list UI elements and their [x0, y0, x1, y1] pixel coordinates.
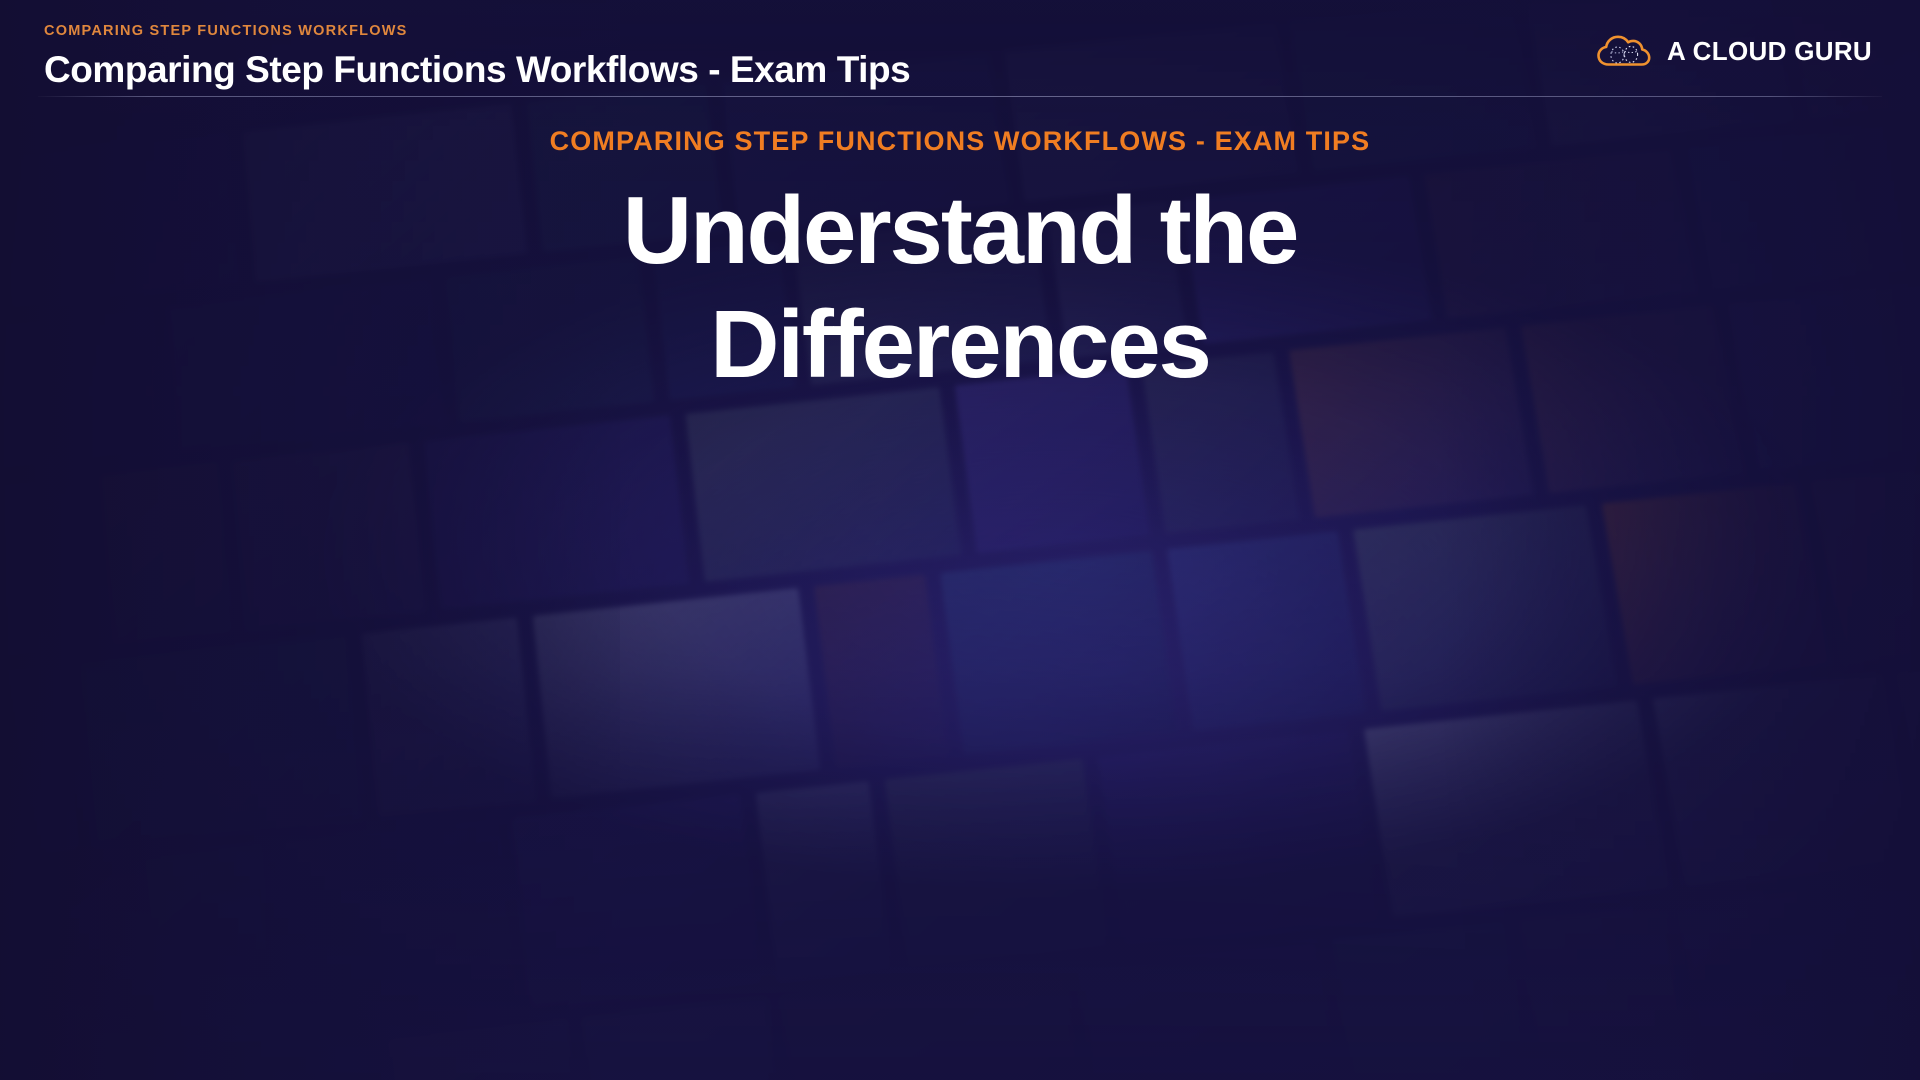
mosaic-tile — [0, 1070, 116, 1080]
brand-lockup: A CLOUD GURU — [1596, 18, 1872, 70]
mosaic-tile — [512, 795, 761, 1008]
mosaic-tile — [756, 781, 892, 981]
mosaic-row — [0, 1050, 1920, 1080]
page-title: Comparing Step Functions Workflows - Exa… — [44, 49, 910, 90]
mosaic-tile — [362, 618, 536, 817]
mosaic-tile — [1333, 922, 1535, 1080]
brand-name: A CLOUD GURU — [1667, 36, 1872, 67]
slide: COMPARING STEP FUNCTIONS WORKFLOWS Compa… — [0, 0, 1920, 1080]
mosaic-tile — [1353, 505, 1617, 711]
mosaic-tile — [0, 859, 141, 1075]
mosaic-tile — [1812, 467, 1920, 662]
mosaic-tile — [0, 477, 98, 670]
slide-headline: Understand the Differences — [470, 174, 1450, 401]
mosaic-tile — [1602, 483, 1829, 684]
mosaic-row — [0, 837, 1920, 1080]
mosaic-tile — [1910, 851, 1920, 1077]
mosaic-tile — [1098, 731, 1377, 945]
mosaic-tile — [1653, 675, 1916, 886]
mosaic-tile — [1897, 654, 1920, 861]
mosaic-tile — [143, 845, 278, 1047]
mosaic-row — [0, 633, 1920, 1080]
mosaic-tile — [101, 463, 231, 644]
header-divider — [38, 96, 1882, 97]
slide-header: COMPARING STEP FUNCTIONS WORKFLOWS Compa… — [0, 0, 1920, 90]
header-left: COMPARING STEP FUNCTIONS WORKFLOWS Compa… — [44, 18, 910, 90]
mosaic-row — [0, 437, 1920, 888]
mosaic-tile — [1079, 942, 1346, 1080]
mosaic-tile — [686, 387, 962, 582]
slide-body: COMPARING STEP FUNCTIONS WORKFLOWS - EXA… — [0, 125, 1920, 401]
mosaic-tile — [940, 551, 1177, 755]
mosaic-tile — [782, 969, 1089, 1080]
mosaic-tile — [117, 1041, 390, 1080]
mosaic-tile — [1677, 881, 1920, 1080]
mosaic-tile — [232, 443, 424, 630]
header-row: COMPARING STEP FUNCTIONS WORKFLOWS Compa… — [44, 18, 1872, 90]
mosaic-tile — [533, 588, 821, 798]
header-eyebrow: COMPARING STEP FUNCTIONS WORKFLOWS — [44, 24, 910, 40]
mosaic-tile — [1167, 531, 1365, 730]
mosaic-tile — [583, 1000, 789, 1080]
mosaic-tile — [424, 416, 689, 610]
mosaic-tile — [388, 1021, 587, 1080]
mosaic-tile — [1519, 906, 1695, 1080]
mosaic-tile — [80, 636, 362, 847]
mosaic-tile — [278, 820, 516, 1032]
mosaic-tile — [814, 575, 948, 768]
mosaic-tile — [1364, 700, 1669, 917]
mosaic-tile — [885, 759, 1108, 968]
slide-kicker: COMPARING STEP FUNCTIONS WORKFLOWS - EXA… — [160, 125, 1760, 157]
mosaic-tile — [0, 665, 78, 860]
cloud-guru-logo-icon — [1596, 32, 1652, 70]
